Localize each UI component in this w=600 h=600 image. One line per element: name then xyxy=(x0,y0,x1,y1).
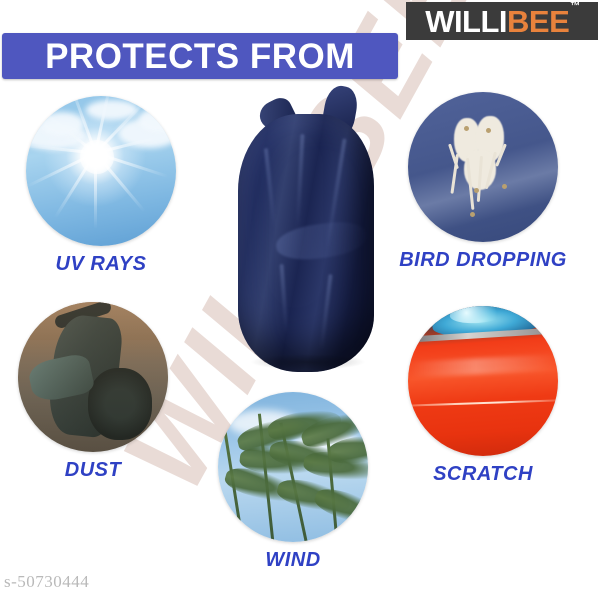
protection-label-dust: DUST xyxy=(18,459,168,482)
brand-name-primary: WILLI xyxy=(425,4,507,39)
brand-name-accent: BEE xyxy=(507,4,569,39)
protection-item-bird: BIRD DROPPING xyxy=(408,92,572,272)
protection-item-dust: DUST xyxy=(18,302,168,482)
headline-banner: PROTECTS FROM xyxy=(2,33,398,79)
bird-dropping-photo xyxy=(408,92,558,242)
scratch-photo xyxy=(408,306,558,456)
trademark-symbol: ™ xyxy=(570,1,580,12)
wind-photo xyxy=(218,392,368,542)
page-title: PROTECTS FROM xyxy=(45,39,355,74)
protection-label-uv: UV RAYS xyxy=(26,253,176,276)
product-image-bike-cover xyxy=(216,86,396,376)
windblown-trees-illustration xyxy=(218,392,368,542)
product-poster: WILLIBEE PROTECTS FROM WILLIBEE™ xyxy=(0,0,600,600)
product-shadow xyxy=(250,354,366,370)
dust-photo xyxy=(18,302,168,452)
bird-droppings-illustration xyxy=(408,92,558,242)
protection-label-scratch: SCRATCH xyxy=(403,463,563,486)
protection-label-bird: BIRD DROPPING xyxy=(394,249,572,272)
protection-label-wind: WIND xyxy=(218,549,368,572)
sunny-sky-illustration xyxy=(26,96,176,246)
protection-item-wind: WIND xyxy=(218,392,368,572)
protection-item-scratch: SCRATCH xyxy=(408,306,563,486)
bike-body-cover-body xyxy=(238,114,374,372)
brand-logo: WILLIBEE™ xyxy=(406,2,598,40)
brand-wordmark: WILLIBEE™ xyxy=(425,6,579,37)
protection-item-uv: UV RAYS xyxy=(26,96,176,276)
uv-rays-photo xyxy=(26,96,176,246)
scratched-car-illustration xyxy=(408,306,558,456)
dusty-scooter-illustration xyxy=(18,302,168,452)
item-code: s-50730444 xyxy=(4,572,89,592)
